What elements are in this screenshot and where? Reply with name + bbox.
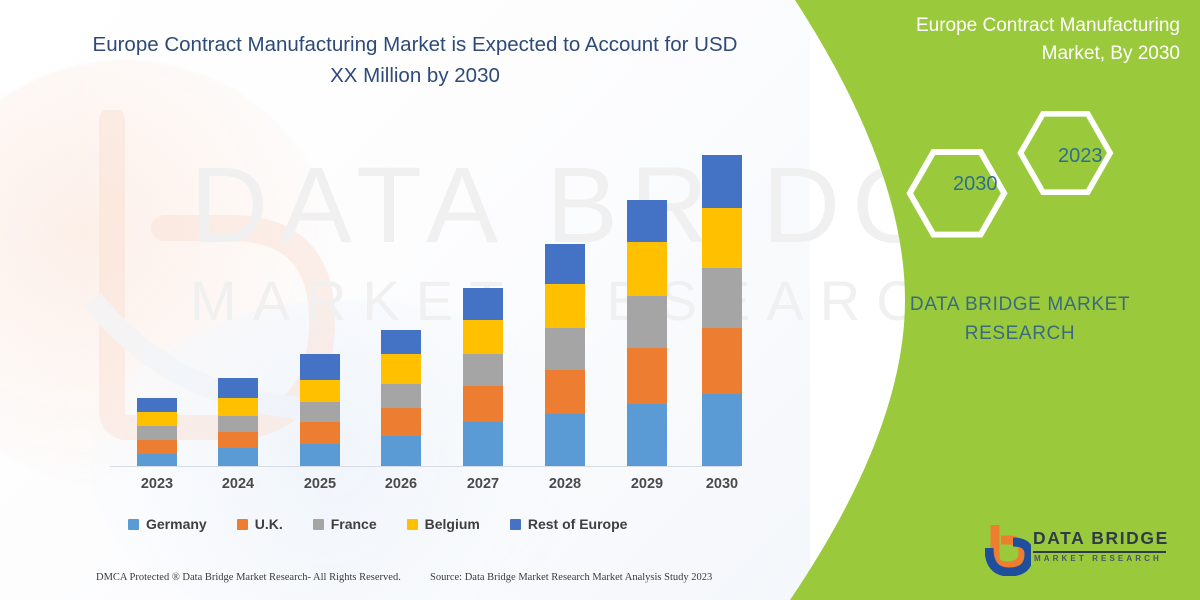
bar-segment-germany (381, 436, 421, 466)
bar-2025 (300, 354, 340, 466)
legend-item-u-k[interactable]: U.K. (237, 516, 283, 532)
bar-segment-belgium (218, 398, 258, 416)
legend-item-rest-of-europe[interactable]: Rest of Europe (510, 516, 628, 532)
x-axis-label-2027: 2027 (453, 476, 513, 492)
bar-segment-france (300, 402, 340, 422)
bar-segment-u-k (300, 422, 340, 444)
legend-label: Belgium (425, 516, 480, 532)
logo-title: DATA BRIDGE (1033, 528, 1169, 549)
bar-segment-germany (218, 448, 258, 466)
bar-segment-u-k (218, 432, 258, 448)
bar-2027 (463, 288, 503, 466)
bar-segment-germany (545, 414, 585, 466)
hexagon-label-2023: 2023 (1058, 145, 1103, 168)
bar-segment-france (627, 296, 667, 348)
legend-swatch-icon (407, 519, 418, 530)
page-title: Europe Contract Manufacturing Market is … (90, 30, 740, 92)
bar-segment-belgium (627, 242, 667, 296)
legend-swatch-icon (313, 519, 324, 530)
footer-source: Source: Data Bridge Market Research Mark… (430, 572, 712, 583)
bar-segment-rest-of-europe (545, 244, 585, 284)
bar-segment-u-k (702, 328, 742, 394)
logo-divider (1033, 551, 1166, 553)
bar-segment-germany (627, 404, 667, 466)
legend-swatch-icon (237, 519, 248, 530)
x-axis-label-2030: 2030 (692, 476, 752, 492)
logo-b-icon (985, 522, 1031, 576)
bar-segment-germany (702, 394, 742, 466)
bar-chart-bars (110, 140, 750, 466)
bar-segment-france (137, 426, 177, 440)
bar-2023 (137, 398, 177, 466)
hexagon-outline-icons (880, 105, 1180, 240)
bar-segment-germany (463, 422, 503, 466)
bar-segment-belgium (300, 380, 340, 402)
bar-2029 (627, 200, 667, 466)
bar-segment-france (381, 384, 421, 408)
x-axis-label-2026: 2026 (371, 476, 431, 492)
footer-copyright: DMCA Protected ® Data Bridge Market Rese… (96, 572, 401, 583)
bar-segment-belgium (463, 320, 503, 354)
bar-segment-u-k (381, 408, 421, 436)
bar-2030 (702, 155, 742, 466)
footer: DMCA Protected ® Data Bridge Market Rese… (0, 566, 810, 600)
bar-2028 (545, 244, 585, 466)
x-axis-label-2025: 2025 (290, 476, 350, 492)
x-axis-line (110, 466, 740, 467)
bar-segment-rest-of-europe (463, 288, 503, 320)
company-logo: DATA BRIDGE MARKET RESEARCH (985, 522, 1185, 578)
green-panel-title: Europe Contract Manufacturing Market, By… (860, 12, 1180, 67)
logo-subtitle: MARKET RESEARCH (1034, 554, 1162, 563)
legend-item-belgium[interactable]: Belgium (407, 516, 480, 532)
bar-segment-rest-of-europe (381, 330, 421, 354)
x-axis-label-2024: 2024 (208, 476, 268, 492)
green-panel-brand: DATA BRIDGE MARKET RESEARCH (860, 290, 1180, 349)
bar-segment-u-k (627, 348, 667, 404)
bar-segment-france (218, 416, 258, 432)
bar-segment-france (463, 354, 503, 386)
x-axis-label-2029: 2029 (617, 476, 677, 492)
legend-item-france[interactable]: France (313, 516, 377, 532)
bar-2024 (218, 378, 258, 466)
bar-segment-rest-of-europe (702, 155, 742, 208)
hexagon-label-2030: 2030 (953, 173, 998, 196)
bar-segment-belgium (702, 208, 742, 268)
green-panel-content: Europe Contract Manufacturing Market, By… (860, 0, 1200, 600)
x-axis-label-2028: 2028 (535, 476, 595, 492)
bar-segment-rest-of-europe (300, 354, 340, 380)
bar-segment-france (702, 268, 742, 328)
bar-segment-belgium (381, 354, 421, 384)
bar-segment-u-k (463, 386, 503, 422)
legend-label: U.K. (255, 516, 283, 532)
x-axis-labels: 20232024202520262027202820292030 (110, 476, 750, 498)
bar-segment-germany (137, 454, 177, 466)
x-axis-label-2023: 2023 (127, 476, 187, 492)
bar-segment-france (545, 328, 585, 370)
bar-segment-belgium (545, 284, 585, 328)
infographic-canvas: DATA BRIDGE MARKET RESEARCH Europe Contr… (0, 0, 1200, 600)
hexagon-badges: 2023 2030 (880, 105, 1180, 240)
legend-swatch-icon (510, 519, 521, 530)
bar-segment-u-k (137, 440, 177, 454)
legend-item-germany[interactable]: Germany (128, 516, 207, 532)
bar-segment-u-k (545, 370, 585, 414)
legend-label: France (331, 516, 377, 532)
legend-label: Rest of Europe (528, 516, 628, 532)
bar-segment-rest-of-europe (218, 378, 258, 398)
bar-segment-rest-of-europe (627, 200, 667, 242)
legend-swatch-icon (128, 519, 139, 530)
bar-segment-germany (300, 444, 340, 466)
bar-segment-belgium (137, 412, 177, 426)
legend-label: Germany (146, 516, 207, 532)
bar-segment-rest-of-europe (137, 398, 177, 412)
bar-2026 (381, 330, 421, 466)
chart-legend: GermanyU.K.FranceBelgiumRest of Europe (128, 512, 748, 536)
